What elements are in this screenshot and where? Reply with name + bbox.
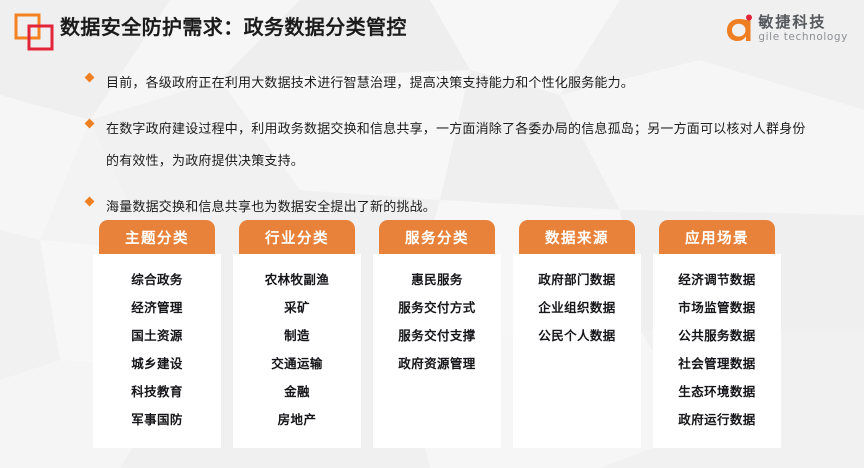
category-item: 惠民服务 xyxy=(411,266,463,294)
bullet-text: 在数字政府建设过程中，利用政务数据交换和信息共享，一方面消除了各委办局的信息孤岛… xyxy=(106,114,806,178)
category-column-industry: 行业分类 农林牧副渔 采矿 制造 交通运输 金融 房地产 xyxy=(233,220,361,448)
page-title: 数据安全防护需求：政务数据分类管控 xyxy=(60,12,407,42)
diamond-bullet-icon xyxy=(85,73,95,83)
logo-name-en: gile technology xyxy=(758,32,848,43)
category-item-list: 政府部门数据 企业组织数据 公民个人数据 xyxy=(513,254,641,448)
category-column-service: 服务分类 惠民服务 服务交付方式 服务交付支撑 政府资源管理 xyxy=(373,220,501,448)
category-item: 国土资源 xyxy=(131,322,183,350)
bullet-item: 在数字政府建设过程中，利用政务数据交换和信息共享，一方面消除了各委办局的信息孤岛… xyxy=(86,114,806,178)
agile-a-icon xyxy=(725,13,755,45)
category-item-list: 农林牧副渔 采矿 制造 交通运输 金融 房地产 xyxy=(233,254,361,448)
category-item-list: 惠民服务 服务交付方式 服务交付支撑 政府资源管理 xyxy=(373,254,501,448)
category-item: 金融 xyxy=(284,378,310,406)
category-item: 政府部门数据 xyxy=(538,266,615,294)
category-item: 城乡建设 xyxy=(131,350,183,378)
category-item: 军事国防 xyxy=(131,406,183,434)
category-item: 生态环境数据 xyxy=(678,378,755,406)
category-item: 房地产 xyxy=(278,406,317,434)
diamond-bullet-icon xyxy=(85,197,95,207)
slide-canvas: 数据安全防护需求：政务数据分类管控 敏捷科技 gile technology 目… xyxy=(0,0,864,468)
overlapping-squares-icon xyxy=(14,13,56,51)
logo-name-cn: 敏捷科技 xyxy=(758,15,848,30)
category-item: 服务交付方式 xyxy=(398,294,475,322)
category-header: 行业分类 xyxy=(239,220,355,254)
category-item: 综合政务 xyxy=(131,266,183,294)
category-item: 经济调节数据 xyxy=(678,266,755,294)
bullet-text: 目前，各级政府正在利用大数据技术进行智慧治理，提高决策支持能力和个性化服务能力。 xyxy=(106,68,634,100)
slide-header: 数据安全防护需求：政务数据分类管控 敏捷科技 gile technology xyxy=(0,0,864,55)
category-item: 制造 xyxy=(284,322,310,350)
category-item: 政府资源管理 xyxy=(398,350,475,378)
category-item: 服务交付支撑 xyxy=(398,322,475,350)
category-column-datasource: 数据来源 政府部门数据 企业组织数据 公民个人数据 xyxy=(513,220,641,448)
category-item: 经济管理 xyxy=(131,294,183,322)
category-item: 采矿 xyxy=(284,294,310,322)
category-header: 主题分类 xyxy=(99,220,215,254)
category-item-list: 综合政务 经济管理 国土资源 城乡建设 科技教育 军事国防 xyxy=(93,254,221,448)
category-column-scenario: 应用场景 经济调节数据 市场监管数据 公共服务数据 社会管理数据 生态环境数据 … xyxy=(653,220,781,448)
category-item: 交通运输 xyxy=(271,350,323,378)
category-header: 数据来源 xyxy=(519,220,635,254)
category-item: 农林牧副渔 xyxy=(265,266,330,294)
category-item: 公民个人数据 xyxy=(538,322,615,350)
logo-text: 敏捷科技 gile technology xyxy=(758,15,848,43)
category-item: 社会管理数据 xyxy=(678,350,755,378)
bullet-list: 目前，各级政府正在利用大数据技术进行智慧治理，提高决策支持能力和个性化服务能力。… xyxy=(86,68,806,238)
category-item-list: 经济调节数据 市场监管数据 公共服务数据 社会管理数据 生态环境数据 政府运行数… xyxy=(653,254,781,448)
category-item: 科技教育 xyxy=(131,378,183,406)
bullet-item: 目前，各级政府正在利用大数据技术进行智慧治理，提高决策支持能力和个性化服务能力。 xyxy=(86,68,806,100)
category-column-subject: 主题分类 综合政务 经济管理 国土资源 城乡建设 科技教育 军事国防 xyxy=(93,220,221,448)
category-item: 企业组织数据 xyxy=(538,294,615,322)
diamond-bullet-icon xyxy=(85,119,95,129)
category-item: 公共服务数据 xyxy=(678,322,755,350)
category-item: 政府运行数据 xyxy=(678,406,755,434)
category-header: 服务分类 xyxy=(379,220,495,254)
category-columns: 主题分类 综合政务 经济管理 国土资源 城乡建设 科技教育 军事国防 行业分类 … xyxy=(93,220,781,448)
category-header: 应用场景 xyxy=(659,220,775,254)
company-logo: 敏捷科技 gile technology xyxy=(725,10,848,48)
category-item: 市场监管数据 xyxy=(678,294,755,322)
